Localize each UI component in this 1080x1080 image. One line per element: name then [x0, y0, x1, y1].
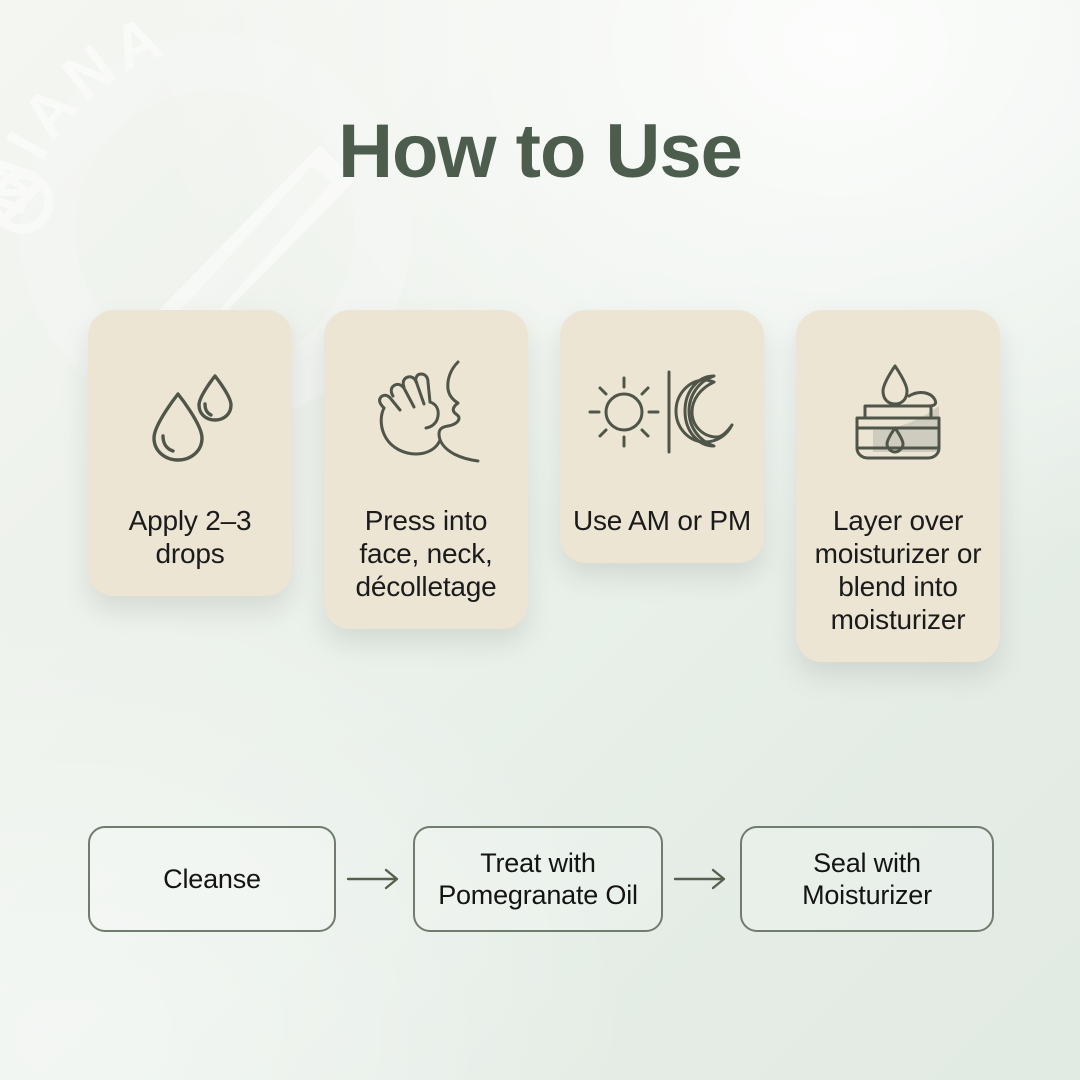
flow-step-seal[interactable]: Seal with Moisturizer — [740, 826, 994, 932]
step-card-am-pm: Use AM or PM — [560, 310, 764, 563]
step-card-press-into-skin: Press into face, neck, décolletage — [324, 310, 528, 629]
how-to-use-infographic: MIANA How to Use Apply 2–3 drops — [0, 0, 1080, 1080]
flow-step-label: Treat with Pomegranate Oil — [429, 847, 647, 912]
routine-flow: Cleanse Treat with Pomegranate Oil Seal … — [88, 826, 994, 932]
flow-step-label: Seal with Moisturizer — [756, 847, 978, 912]
moisturizer-jar-icon — [839, 356, 957, 468]
steps-row: Apply 2–3 drops Press into face, neck, d… — [88, 310, 1000, 662]
step-card-label: Use AM or PM — [573, 504, 751, 537]
arrow-right-icon — [663, 868, 740, 890]
step-card-label: Apply 2–3 drops — [100, 504, 280, 570]
flow-step-label: Cleanse — [163, 863, 261, 895]
step-card-label: Press into face, neck, décolletage — [336, 504, 516, 603]
hand-pressing-face-icon — [366, 356, 486, 468]
flow-step-treat[interactable]: Treat with Pomegranate Oil — [413, 826, 663, 932]
water-drops-icon — [136, 356, 244, 468]
flow-step-cleanse[interactable]: Cleanse — [88, 826, 336, 932]
page-title: How to Use — [0, 108, 1080, 195]
step-card-label: Layer over moisturizer or blend into moi… — [808, 504, 988, 636]
step-card-layer-moisturizer: Layer over moisturizer or blend into moi… — [796, 310, 1000, 662]
step-card-apply-drops: Apply 2–3 drops — [88, 310, 292, 596]
arrow-right-icon — [336, 868, 413, 890]
sun-moon-icon — [586, 356, 738, 468]
